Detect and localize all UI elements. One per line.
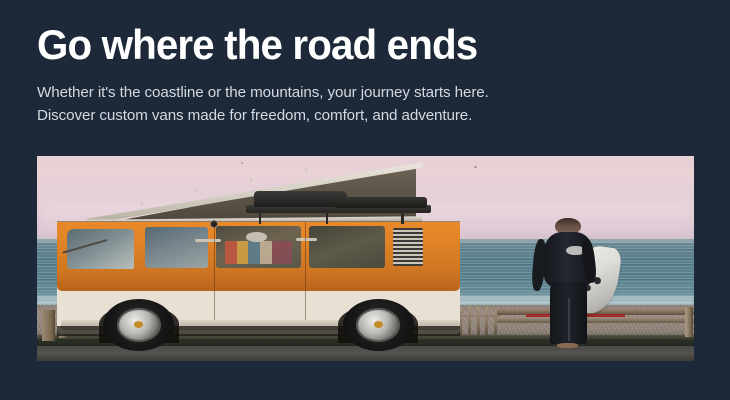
surfer-figure <box>526 218 611 347</box>
roof-rack-leg <box>259 210 262 223</box>
fence-post <box>42 310 55 341</box>
roof-rack-cargo <box>254 191 347 207</box>
window-stickers <box>225 241 292 264</box>
van-wheel <box>343 299 414 351</box>
hero-subtitle-line-2: Discover custom vans made for freedom, c… <box>37 104 697 127</box>
poptop-clip <box>141 201 143 205</box>
hero-image <box>37 156 694 361</box>
fence-picket <box>494 308 497 335</box>
van-side-window <box>145 227 208 268</box>
hero-text-block: Go where the road ends Whether it's the … <box>37 22 697 127</box>
van-door-handle <box>296 238 317 241</box>
van-engine-vents <box>393 228 422 267</box>
poptop-clip <box>195 189 197 193</box>
window-sticker-oval <box>246 232 267 242</box>
hero-subtitle: Whether it's the coastline or the mounta… <box>37 81 697 127</box>
van-door-seam <box>214 222 215 328</box>
van-hubcap <box>358 310 398 339</box>
roof-rack-leg <box>326 210 329 223</box>
poptop-clip <box>250 178 252 182</box>
hero-image-scene <box>37 156 694 361</box>
roof-rack-cargo <box>334 197 427 209</box>
poptop-clip <box>305 168 307 172</box>
van-door-handle <box>195 239 220 242</box>
van-wheel <box>103 299 174 351</box>
fence-post <box>685 307 694 338</box>
page-title: Go where the road ends <box>37 22 671 68</box>
van-hubcap <box>119 310 159 339</box>
camper-van <box>57 162 477 355</box>
roof-rack-leg <box>401 210 404 223</box>
van-hub-center <box>374 321 384 328</box>
fence-picket <box>485 307 488 335</box>
van-hub-center <box>134 321 144 328</box>
surfer-foot <box>557 343 577 348</box>
hero-subtitle-line-1: Whether it's the coastline or the mounta… <box>37 81 697 104</box>
van-door-seam <box>305 222 306 328</box>
surfer-leg-split <box>568 298 570 342</box>
van-side-window <box>309 226 385 268</box>
